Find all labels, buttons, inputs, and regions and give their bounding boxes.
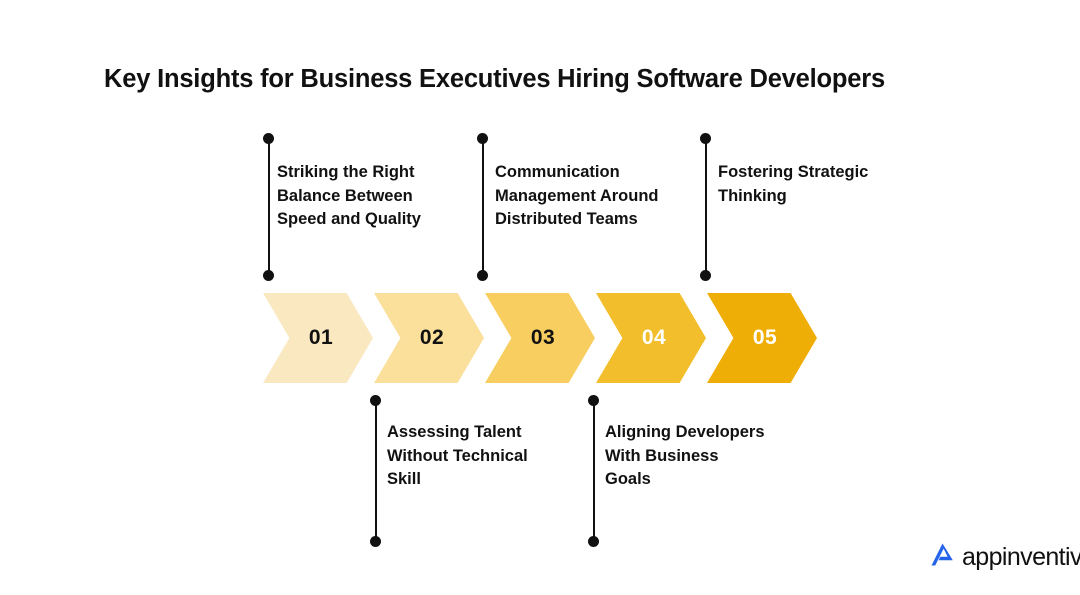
chevron-step-02[interactable]: 02: [374, 293, 484, 383]
connector-step-02: [370, 395, 381, 547]
connector-dot-bottom: [477, 270, 488, 281]
chevron-step-05[interactable]: 05: [707, 293, 817, 383]
callout-step-02: Assessing Talent Without Technical Skill: [387, 421, 557, 492]
callout-step-01: Striking the Right Balance Between Speed…: [277, 161, 437, 232]
chevron-process-infographic: 01 02 03 04 05 Striking the Right Balanc…: [0, 0, 1080, 595]
chevron-number-label: 03: [531, 326, 555, 350]
chevron-number-label: 04: [642, 326, 666, 350]
connector-dot-bottom: [700, 270, 711, 281]
chevron-number-label: 01: [309, 326, 333, 350]
chevron-step-03[interactable]: 03: [485, 293, 595, 383]
connector-line: [482, 138, 484, 276]
appinventiv-a-mark-icon: [925, 538, 959, 577]
connector-line: [268, 138, 270, 276]
brand-name: appinventiv: [962, 545, 1080, 570]
connector-step-04: [588, 395, 599, 547]
connector-step-01: [263, 133, 274, 281]
callout-step-05: Fostering Strategic Thinking: [718, 161, 898, 208]
connector-dot-bottom: [588, 536, 599, 547]
chevron-step-04[interactable]: 04: [596, 293, 706, 383]
callout-step-04: Aligning Developers With Business Goals: [605, 421, 765, 492]
chevron-step-01[interactable]: 01: [263, 293, 373, 383]
connector-dot-bottom: [263, 270, 274, 281]
callout-step-03: Communication Management Around Distribu…: [495, 161, 675, 232]
connector-line: [593, 400, 595, 542]
connector-step-05: [700, 133, 711, 281]
chevron-number-label: 02: [420, 326, 444, 350]
chevron-number-label: 05: [753, 326, 777, 350]
connector-line: [705, 138, 707, 276]
connector-step-03: [477, 133, 488, 281]
connector-dot-bottom: [370, 536, 381, 547]
connector-line: [375, 400, 377, 542]
brand-logo: appinventiv: [925, 540, 1080, 574]
